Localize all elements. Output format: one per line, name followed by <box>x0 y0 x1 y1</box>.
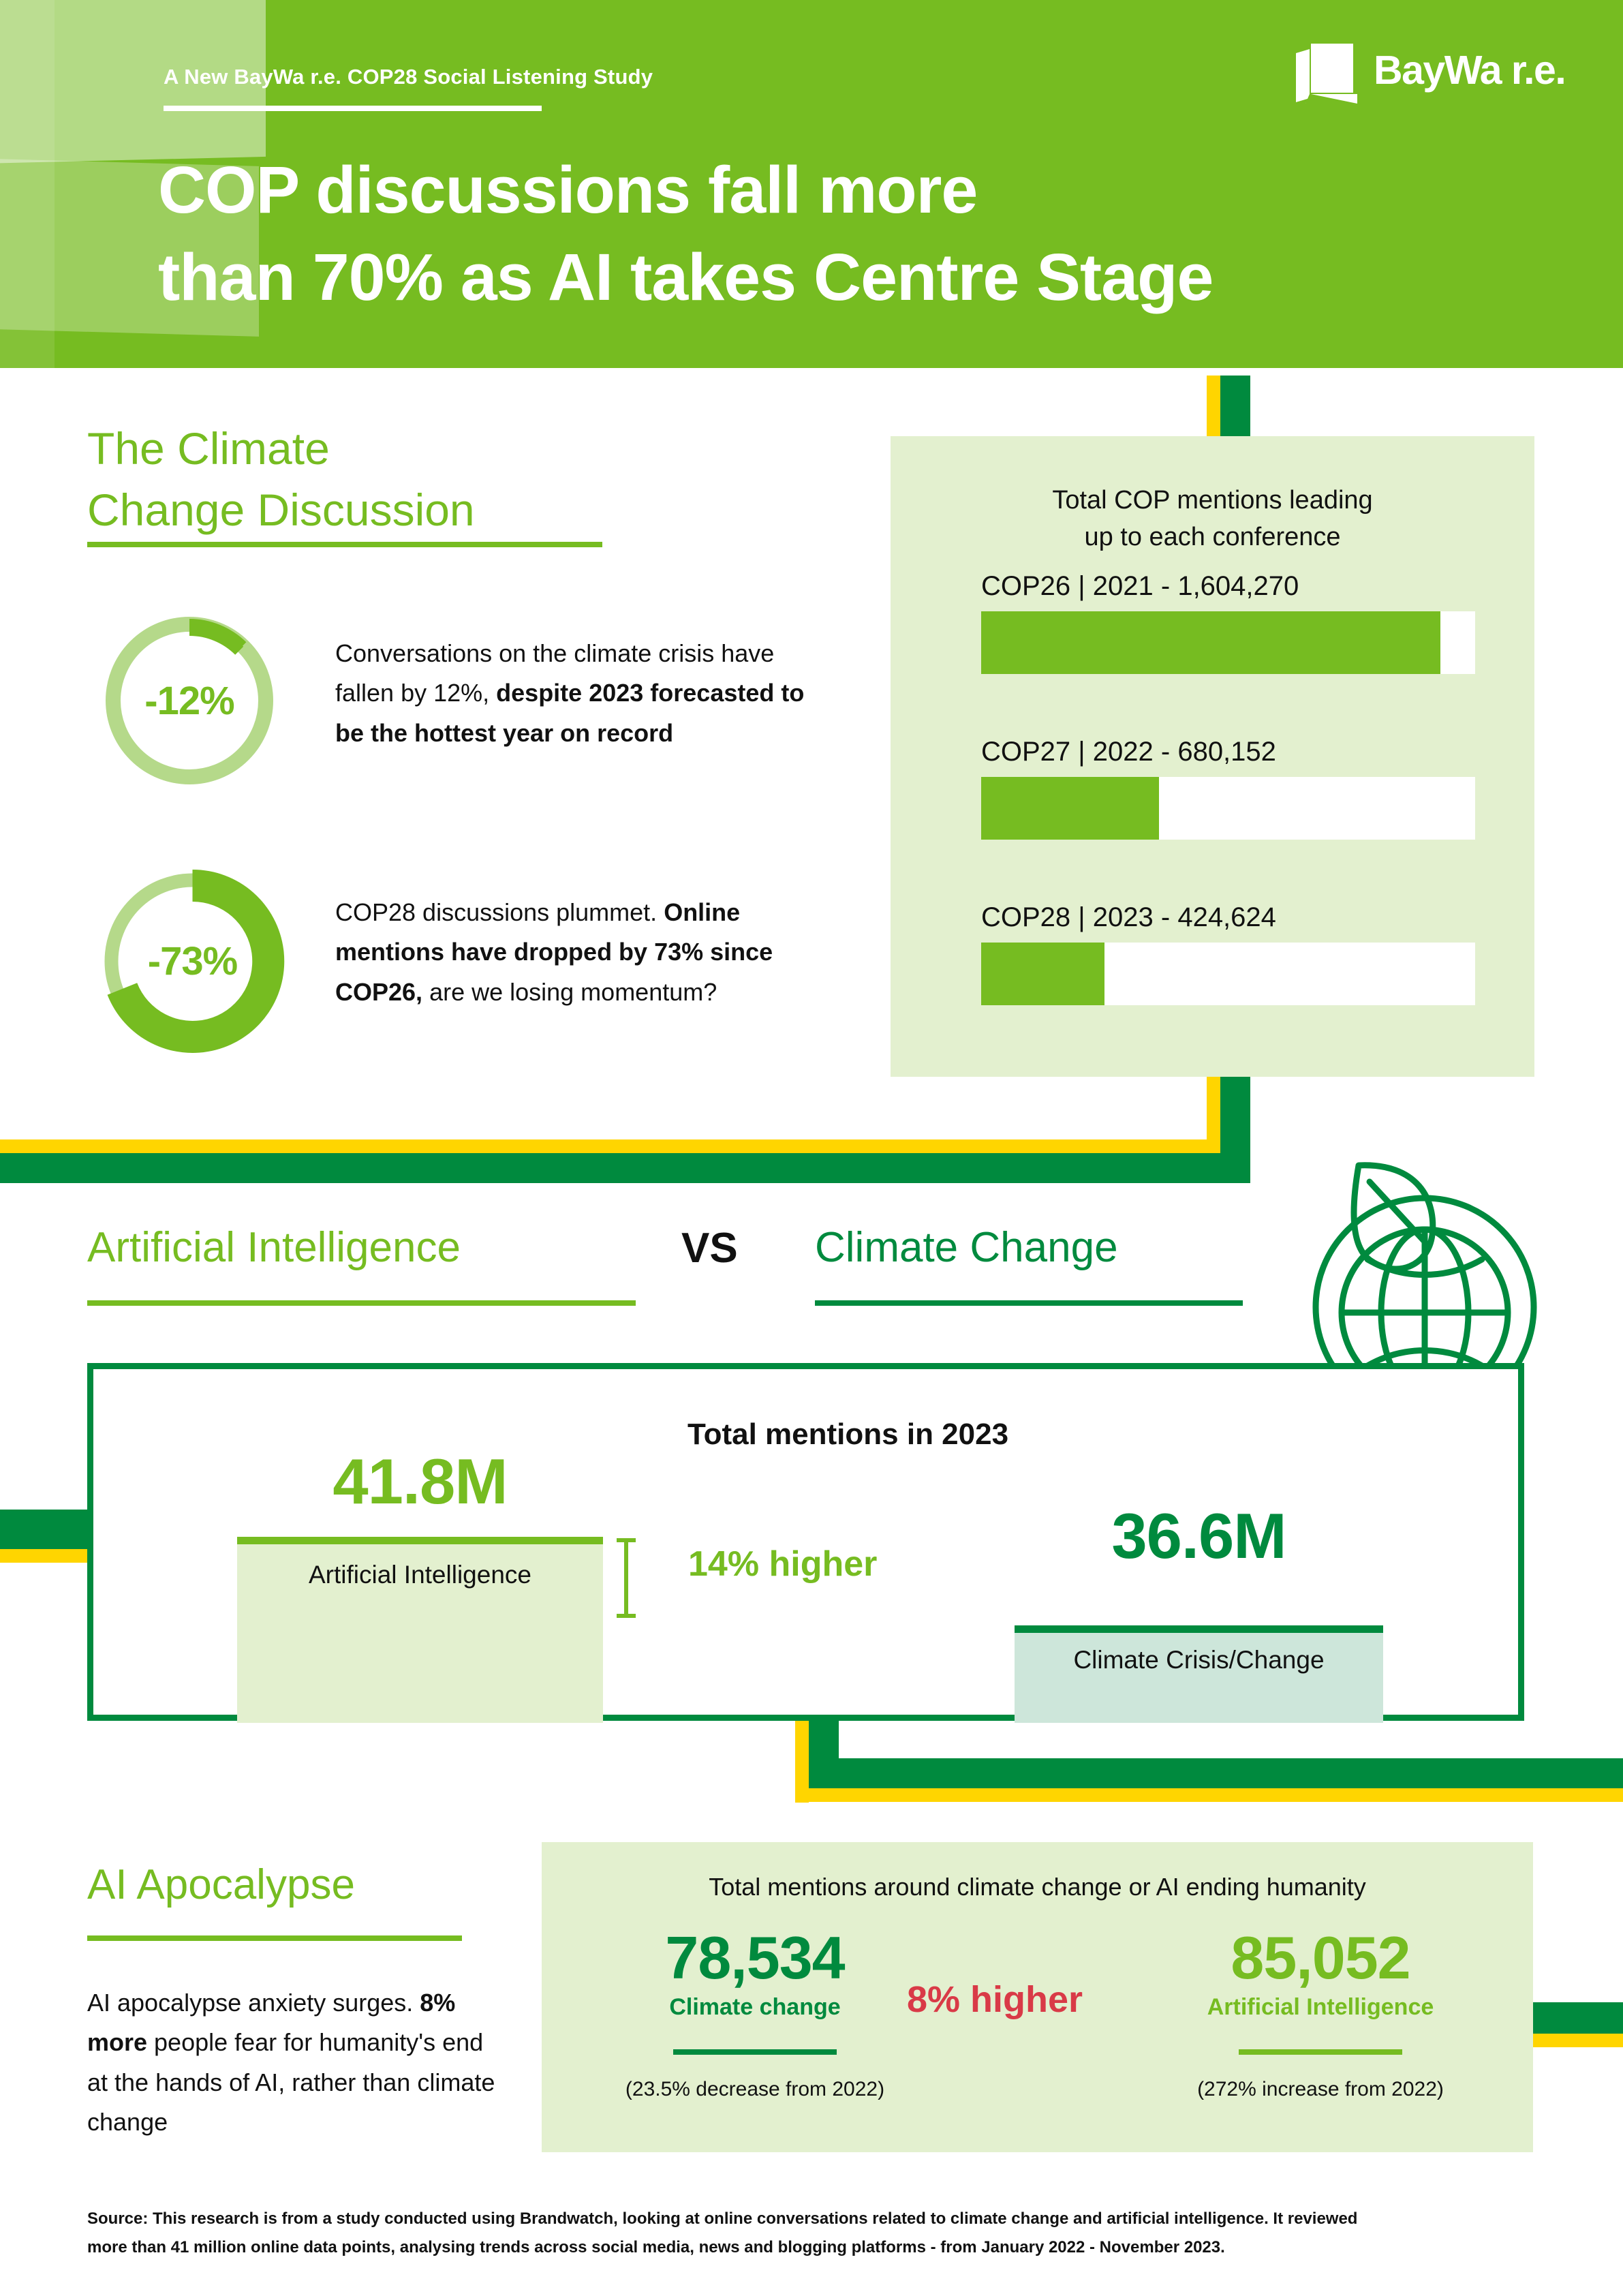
cop-bar-track-26 <box>981 611 1475 674</box>
section2-connector-horizontal-yellow <box>795 1788 1623 1802</box>
apocalypse-panel-title: Total mentions around climate change or … <box>542 1873 1533 1901</box>
delta-label: 14% higher <box>688 1544 877 1585</box>
section1-title-rule <box>87 542 602 547</box>
apocalypse-climate-number: 78,534 <box>595 1925 915 1990</box>
cop-mentions-panel: Total COP mentions leading up to each co… <box>891 436 1534 1077</box>
cop-panel-connector-yellow <box>1207 376 1220 437</box>
cop-panel-title-line-1: Total COP mentions leading <box>891 483 1534 519</box>
delta-bracket-icon <box>617 1538 636 1618</box>
cop-bar-track-28 <box>981 943 1475 1005</box>
apocalypse-ai-sub: (272% increase from 2022) <box>1160 2078 1481 2101</box>
apocalypse-climate-sub: (23.5% decrease from 2022) <box>595 2078 915 2101</box>
section2-vs-label: VS <box>681 1224 738 1272</box>
baywa-logo-wordmark: BayWa r.e. <box>1374 47 1565 93</box>
section2-climate-title: Climate Change <box>815 1223 1118 1272</box>
header-kicker: A New BayWa r.e. COP28 Social Listening … <box>164 65 653 89</box>
section2-connector-horizontal-green <box>809 1758 1623 1788</box>
headline-line-2: than 70% as AI takes Centre Stage <box>158 234 1453 321</box>
cop-bar-row-27: COP27 | 2022 - 680,152 <box>981 737 1475 840</box>
baywa-logo: BayWa r.e. <box>1295 41 1547 106</box>
stat-donut-12: -12% <box>101 612 278 789</box>
apocalypse-ai-caption: Artificial Intelligence <box>1160 1994 1481 2021</box>
source-line-2: more than 41 million online data points,… <box>87 2233 1477 2262</box>
apocalypse-ai-number: 85,052 <box>1160 1925 1481 1990</box>
climate-bar-value: 36.6M <box>1015 1499 1383 1573</box>
section2-ai-rule <box>87 1300 636 1306</box>
apocalypse-ai-rule <box>1239 2049 1402 2055</box>
section3-body-text: AI apocalypse anxiety surges. 8% more pe… <box>87 1983 510 2142</box>
stat-text-12: Conversations on the climate crisis have… <box>335 634 812 753</box>
section3-right-connector-green <box>1533 2002 1623 2034</box>
section3-right-connector-yellow <box>1533 2034 1623 2047</box>
cop-bar-fill-27 <box>981 777 1159 840</box>
section2-climate-rule <box>815 1300 1243 1306</box>
stat-text-73: COP28 discussions plummet. Online mentio… <box>335 893 812 1012</box>
cop-bar-label-28: COP28 | 2023 - 424,624 <box>981 902 1475 933</box>
section1-connector-horizontal-green <box>0 1153 1250 1183</box>
cop-bar-row-28: COP28 | 2023 - 424,624 <box>981 902 1475 1005</box>
cop-panel-title: Total COP mentions leading up to each co… <box>891 483 1534 556</box>
source-line-1: Source: This research is from a study co… <box>87 2205 1477 2233</box>
cop-bar-track-27 <box>981 777 1475 840</box>
section2-left-connector-yellow <box>0 1549 87 1563</box>
ai-bar-value: 41.8M <box>237 1445 603 1518</box>
cop-bar-label-26: COP26 | 2021 - 1,604,270 <box>981 571 1475 602</box>
section2-left-connector-green <box>0 1510 87 1549</box>
apocalypse-delta-label: 8% higher <box>869 1978 1121 2021</box>
section1-connector-horizontal-yellow <box>0 1139 1220 1153</box>
stat-donut-73-value: -73% <box>95 864 290 1058</box>
apocalypse-column-climate: 78,534 Climate change (23.5% decrease fr… <box>595 1925 915 2101</box>
section1-title-line-2: Change Discussion <box>87 480 700 541</box>
stat-donut-73: -73% <box>95 864 290 1058</box>
baywa-logo-mark-icon <box>1295 42 1360 105</box>
section3-title-rule <box>87 1935 462 1941</box>
section2-caption: Total mentions in 2023 <box>687 1418 1008 1452</box>
cop-panel-title-line-2: up to each conference <box>891 519 1534 556</box>
cop-panel-connector-green <box>1220 376 1250 437</box>
apocalypse-column-ai: 85,052 Artificial Intelligence (272% inc… <box>1160 1925 1481 2101</box>
cop-bar-fill-28 <box>981 943 1104 1005</box>
section2-ai-title: Artificial Intelligence <box>87 1223 461 1272</box>
section3-title: AI Apocalypse <box>87 1861 355 1909</box>
apocalypse-climate-rule <box>673 2049 837 2055</box>
apocalypse-climate-caption: Climate change <box>595 1994 915 2021</box>
cop-bar-fill-26 <box>981 611 1440 674</box>
cop-bar-label-27: COP27 | 2022 - 680,152 <box>981 737 1475 767</box>
stat-donut-12-value: -12% <box>101 612 278 789</box>
header-kicker-rule <box>164 106 542 111</box>
page-header: A New BayWa r.e. COP28 Social Listening … <box>0 0 1623 368</box>
climate-bar-label: Climate Crisis/Change <box>1015 1646 1383 1674</box>
headline-line-1: COP discussions fall more <box>158 147 1453 234</box>
ai-bar-label: Artificial Intelligence <box>237 1561 603 1589</box>
source-footnote: Source: This research is from a study co… <box>87 2205 1477 2262</box>
cop-bar-row-26: COP26 | 2021 - 1,604,270 <box>981 571 1475 674</box>
section1-title-line-1: The Climate <box>87 418 700 480</box>
page-headline: COP discussions fall more than 70% as AI… <box>158 147 1453 321</box>
section1-title: The Climate Change Discussion <box>87 418 700 541</box>
